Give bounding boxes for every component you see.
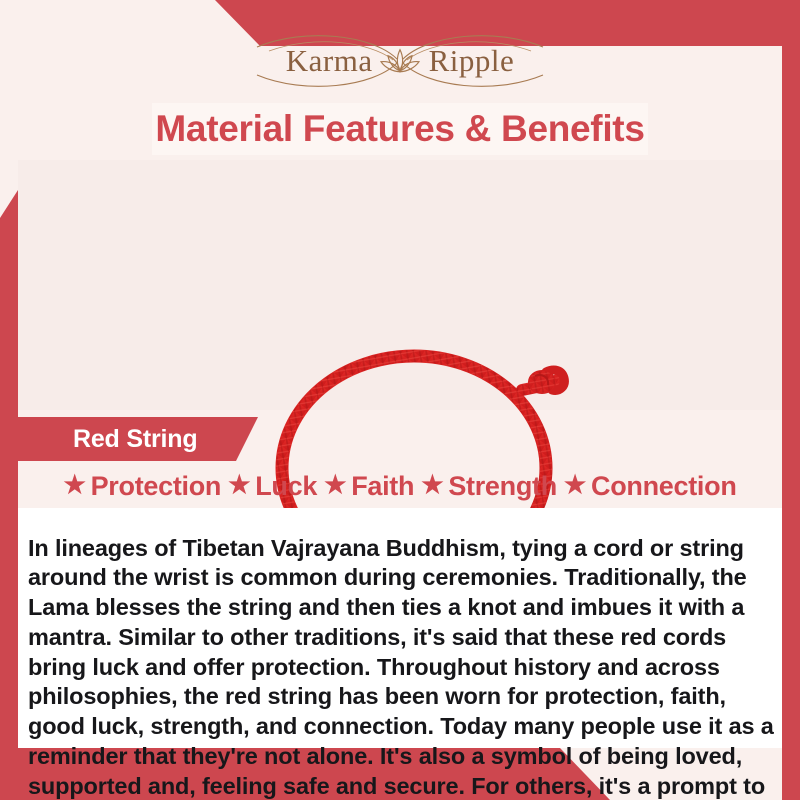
benefit-label: Luck	[255, 471, 317, 502]
description-panel: In lineages of Tibetan Vajrayana Buddhis…	[18, 508, 782, 748]
star-icon: ★	[324, 473, 346, 498]
brand-name: Karma Ripple	[286, 43, 515, 79]
decor-band-left	[0, 190, 18, 800]
benefit-label: Connection	[591, 471, 737, 502]
benefit-label: Protection	[91, 471, 222, 502]
brand-name-right: Ripple	[429, 43, 515, 79]
star-icon: ★	[228, 473, 250, 498]
hero-panel	[18, 160, 782, 410]
title-banner: Material Features & Benefits	[152, 103, 648, 155]
benefit-item-protection: ★ Protection	[63, 471, 221, 502]
lotus-icon	[377, 44, 423, 80]
decor-band-right	[782, 46, 800, 800]
description-text: In lineages of Tibetan Vajrayana Buddhis…	[28, 534, 778, 800]
brand-name-left: Karma	[286, 43, 373, 79]
star-icon: ★	[63, 473, 85, 498]
star-icon: ★	[421, 473, 443, 498]
infographic-poster: Karma Ripple Material Features & Benefit…	[0, 0, 800, 800]
decor-band-top	[0, 0, 800, 46]
benefit-item-faith: ★ Faith	[324, 471, 414, 502]
benefits-row: ★ Protection ★ Luck ★ Faith ★ Strength ★…	[18, 466, 782, 506]
benefit-item-connection: ★ Connection	[564, 471, 737, 502]
benefit-label: Faith	[351, 471, 414, 502]
ribbon-label: Red String	[18, 425, 197, 454]
benefit-item-luck: ★ Luck	[228, 471, 317, 502]
page-title: Material Features & Benefits	[155, 108, 644, 150]
benefit-label: Strength	[448, 471, 557, 502]
benefit-item-strength: ★ Strength	[421, 471, 557, 502]
section-ribbon: Red String	[18, 417, 258, 461]
star-icon: ★	[564, 473, 586, 498]
